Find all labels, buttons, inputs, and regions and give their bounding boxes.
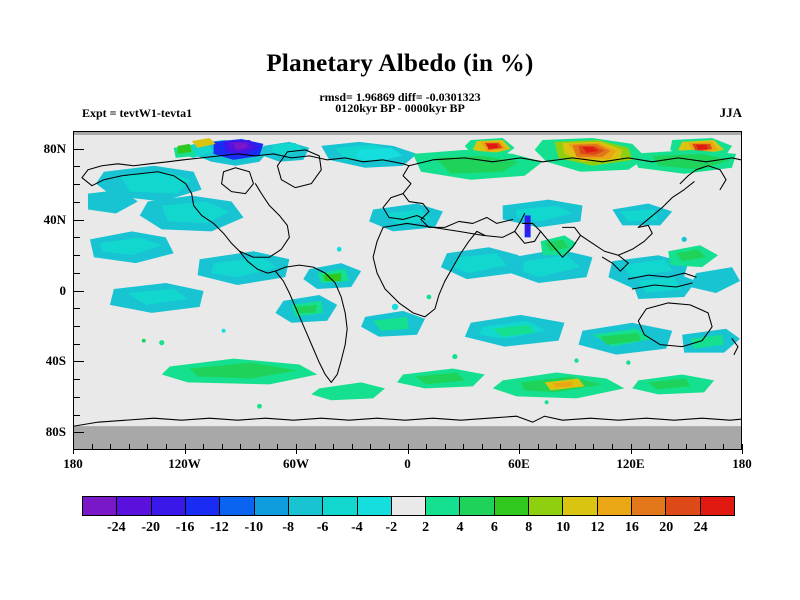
map-canvas (74, 132, 741, 449)
y-axis-tick (73, 326, 80, 327)
colorbar-swatch (117, 497, 151, 515)
x-axis-tick (426, 444, 427, 450)
colorbar-swatch (220, 497, 254, 515)
y-axis-tick-label: 40N (44, 212, 66, 228)
colorbar-swatch (495, 497, 529, 515)
y-axis-tick (73, 291, 84, 292)
colorbar-tick-label: -12 (210, 520, 229, 536)
x-axis-tick (389, 444, 390, 450)
y-axis-tick-label: 40S (46, 353, 66, 369)
x-axis-tick (73, 444, 74, 454)
x-axis-tick (296, 444, 297, 454)
colorbar-swatch (186, 497, 220, 515)
map-plot-area (73, 131, 742, 450)
x-axis-tick-label: 180 (732, 456, 752, 472)
colorbar-swatch (701, 497, 734, 515)
x-axis-tick (463, 444, 464, 450)
x-axis-tick (277, 444, 278, 450)
colorbar (82, 496, 735, 516)
y-axis-tick (73, 361, 84, 362)
y-axis-tick-label: 0 (60, 283, 67, 299)
colorbar-swatch (426, 497, 460, 515)
colorbar-swatch (289, 497, 323, 515)
colorbar-swatch (563, 497, 597, 515)
colorbar-tick-label: -8 (282, 520, 294, 536)
y-axis-tick (73, 255, 80, 256)
colorbar-tick-label: 12 (591, 520, 605, 536)
colorbar-swatch (83, 497, 117, 515)
x-axis-tick (445, 444, 446, 450)
colorbar-swatch (323, 497, 357, 515)
x-axis-tick (649, 444, 650, 450)
x-axis-tick (519, 444, 520, 454)
figure-canvas: Planetary Albedo (in %) rmsd= 1.96869 di… (0, 0, 800, 600)
x-axis-tick (575, 444, 576, 450)
colorbar-tick-label: -10 (244, 520, 263, 536)
y-axis-tick (73, 273, 80, 274)
x-axis-tick (352, 444, 353, 450)
colorbar-swatch (255, 497, 289, 515)
season-label: JJA (720, 105, 742, 121)
colorbar-tick-label: -16 (176, 520, 195, 536)
x-axis-labels: 180120W60W060E120E180 (0, 456, 800, 480)
x-axis-tick (593, 444, 594, 450)
colorbar-tick-label: -24 (107, 520, 126, 536)
colorbar-tick-label: -4 (351, 520, 363, 536)
x-axis-tick (500, 444, 501, 450)
y-axis-tick (73, 415, 80, 416)
y-axis-tick (73, 432, 84, 433)
x-axis-tick-label: 120W (168, 456, 201, 472)
colorbar-tick-label: 8 (525, 520, 532, 536)
y-axis-tick (73, 397, 80, 398)
colorbar-tick-label: 16 (625, 520, 639, 536)
y-axis-tick (73, 379, 80, 380)
y-axis-tick (73, 308, 80, 309)
x-axis-tick (222, 444, 223, 450)
colorbar-swatch (598, 497, 632, 515)
x-axis-tick (556, 444, 557, 450)
colorbar-tick-label: 2 (422, 520, 429, 536)
x-axis-tick (538, 444, 539, 450)
x-axis-tick (259, 444, 260, 450)
y-axis-tick-label: 80N (44, 141, 66, 157)
x-axis-tick (482, 444, 483, 450)
y-axis-tick (73, 184, 80, 185)
colorbar-swatch (460, 497, 494, 515)
colorbar-tick-label: -2 (385, 520, 397, 536)
colorbar-swatch (529, 497, 563, 515)
colorbar-tick-label: 4 (457, 520, 464, 536)
x-axis-tick (147, 444, 148, 450)
x-axis-tick (723, 444, 724, 450)
x-axis-tick (612, 444, 613, 450)
y-axis-tick (73, 202, 80, 203)
y-axis-labels: 80N40N040S80S (0, 131, 66, 450)
x-axis-tick (705, 444, 706, 450)
y-axis-tick (73, 220, 84, 221)
x-axis-tick-label: 60W (283, 456, 309, 472)
colorbar-tick-label: 20 (659, 520, 673, 536)
colorbar-tick-label: -20 (141, 520, 160, 536)
x-axis-tick (240, 444, 241, 450)
y-axis-tick (73, 166, 80, 167)
colorbar-swatch (358, 497, 392, 515)
y-axis-tick (73, 344, 80, 345)
x-axis-tick (110, 444, 111, 450)
x-axis-tick-label: 0 (404, 456, 411, 472)
x-axis-tick (129, 444, 130, 450)
x-axis-tick (203, 444, 204, 450)
x-axis-tick (333, 444, 334, 450)
colorbar-tick-label: -6 (317, 520, 329, 536)
colorbar-tick-labels: -24-20-16-12-10-8-6-4-224681012162024 (0, 520, 800, 542)
arctic-mask (74, 132, 741, 135)
x-axis-tick (408, 444, 409, 454)
colorbar-swatch (666, 497, 700, 515)
x-axis-tick-label: 60E (508, 456, 530, 472)
x-axis-tick (166, 444, 167, 450)
x-axis-tick (185, 444, 186, 454)
x-axis-tick (668, 444, 669, 450)
colorbar-swatch (152, 497, 186, 515)
x-axis-tick (686, 444, 687, 450)
y-axis-tick-label: 80S (46, 424, 66, 440)
y-axis-tick (73, 149, 84, 150)
x-axis-tick (370, 444, 371, 450)
colorbar-swatch (632, 497, 666, 515)
x-axis-tick (315, 444, 316, 450)
colorbar-tick-label: 24 (694, 520, 708, 536)
colorbar-tick-label: 6 (491, 520, 498, 536)
page-title: Planetary Albedo (in %) (0, 50, 800, 78)
x-axis-tick (631, 444, 632, 454)
colorbar-swatch (392, 497, 426, 515)
y-axis-tick (73, 237, 80, 238)
experiment-label: Expt = tevtW1-tevta1 (82, 106, 192, 121)
x-axis-tick-label: 120E (616, 456, 644, 472)
x-axis-tick (742, 444, 743, 454)
colorbar-tick-label: 10 (556, 520, 570, 536)
x-axis-tick-label: 180 (63, 456, 83, 472)
x-axis-tick (92, 444, 93, 450)
